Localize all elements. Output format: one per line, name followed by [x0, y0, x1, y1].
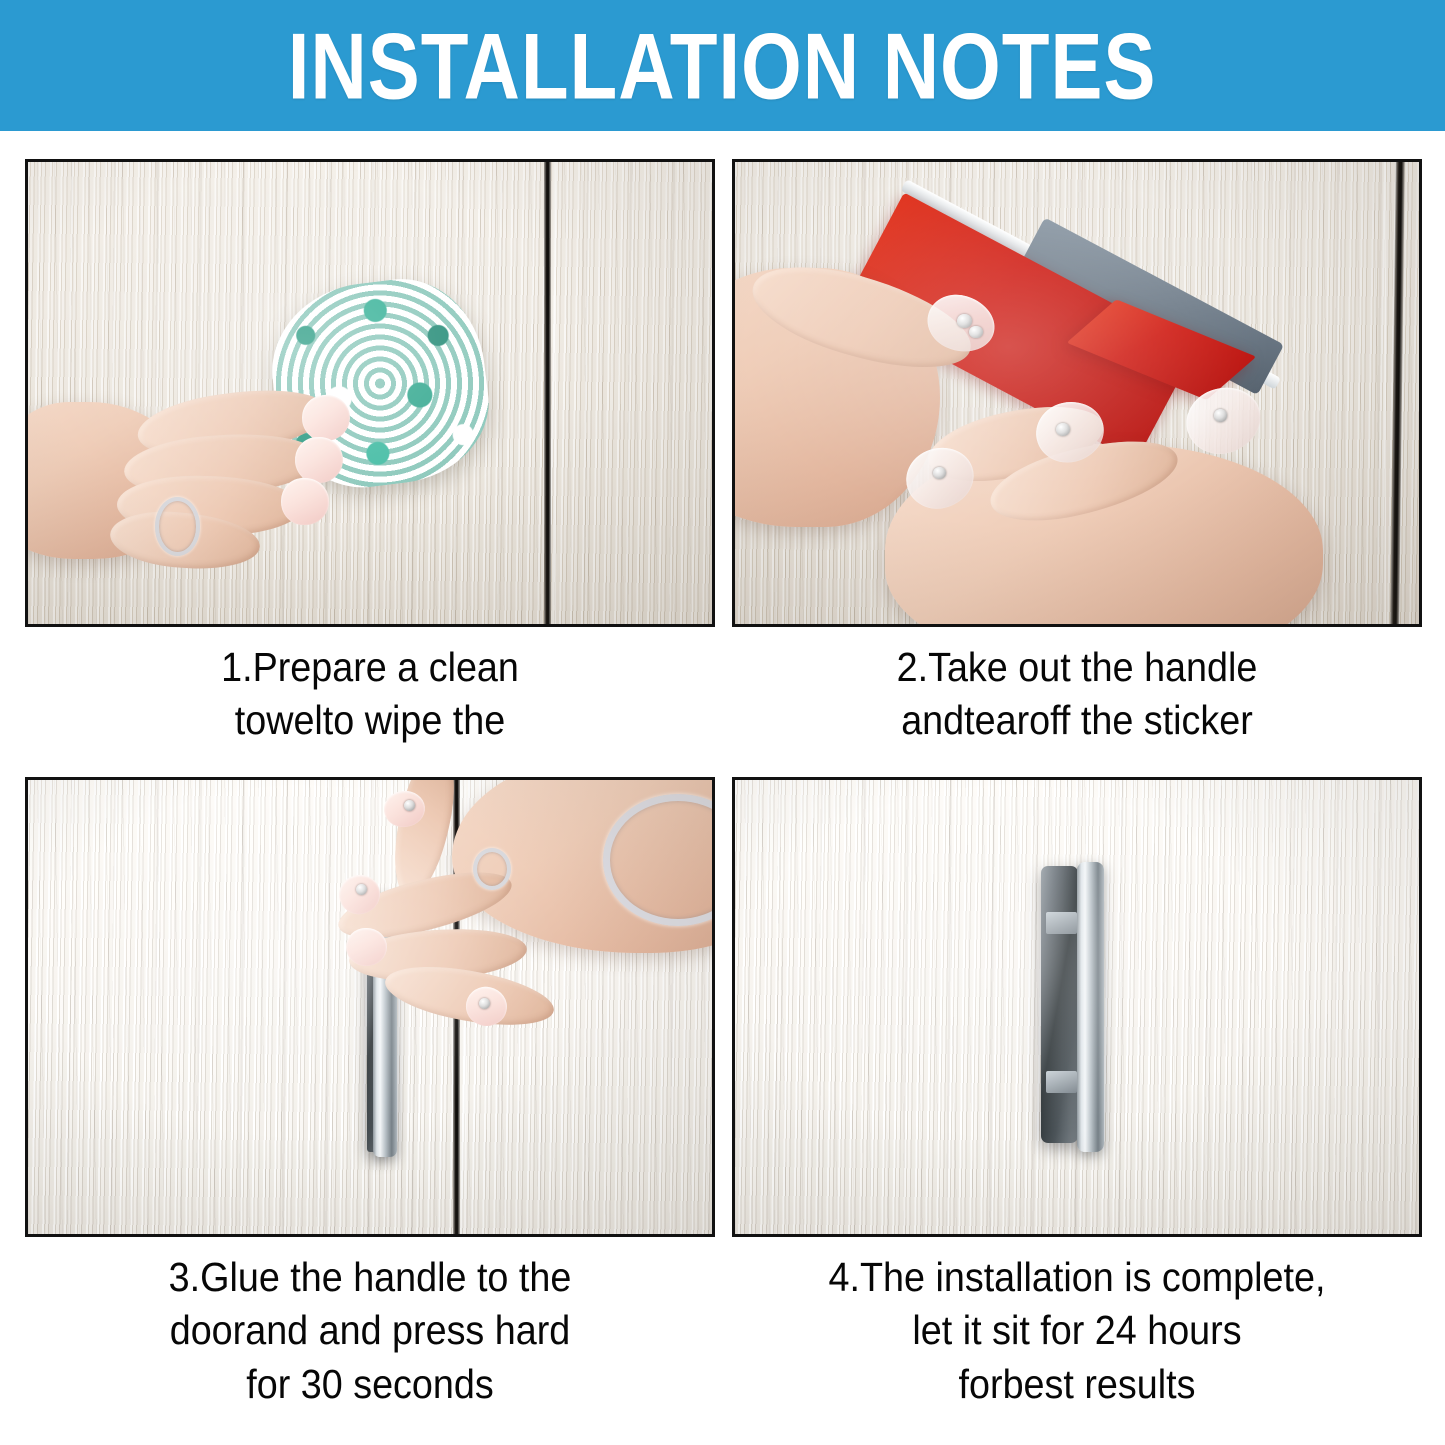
step-1-caption: 1.Prepare a clean towelto wipe the	[53, 641, 688, 748]
step-3-photo	[25, 777, 715, 1237]
handle-base-plate	[1041, 866, 1078, 1143]
step-4-caption: 4.The installation is complete, let it s…	[760, 1251, 1395, 1411]
nail-gem	[969, 326, 983, 339]
step-3: 3.Glue the handle to the doorand and pre…	[25, 777, 715, 1411]
handle-bar	[1077, 862, 1104, 1153]
finger-ring-jewelry	[155, 497, 201, 556]
step-2-caption: 2.Take out the handle andtearoff the sti…	[760, 641, 1395, 748]
page-title: INSTALLATION NOTES	[288, 18, 1157, 112]
step-2-photo	[732, 159, 1422, 627]
steps-grid: 1.Prepare a clean towelto wipe the	[0, 131, 1445, 1445]
step-4-photo	[732, 777, 1422, 1237]
header-banner: INSTALLATION NOTES	[0, 0, 1445, 131]
fingernail-3	[346, 928, 387, 967]
handle-post-top	[1046, 912, 1077, 935]
step-2: 2.Take out the handle andtearoff the sti…	[732, 159, 1422, 748]
door-seam	[544, 159, 551, 627]
step-1: 1.Prepare a clean towelto wipe the	[25, 159, 715, 748]
step-3-caption: 3.Glue the handle to the doorand and pre…	[53, 1251, 688, 1411]
finger-ring-jewelry	[473, 848, 511, 890]
nail-gem	[1056, 423, 1070, 436]
door-edge-highlight	[552, 159, 556, 627]
step-4: 4.The installation is complete, let it s…	[732, 777, 1422, 1411]
door-edge-highlight	[1382, 159, 1386, 627]
infographic-page: INSTALLATION NOTES	[0, 0, 1445, 1445]
fingernail-3	[281, 478, 329, 524]
step-1-photo	[25, 159, 715, 627]
handle-post-bottom	[1046, 1071, 1077, 1094]
nail-gem	[957, 314, 971, 328]
